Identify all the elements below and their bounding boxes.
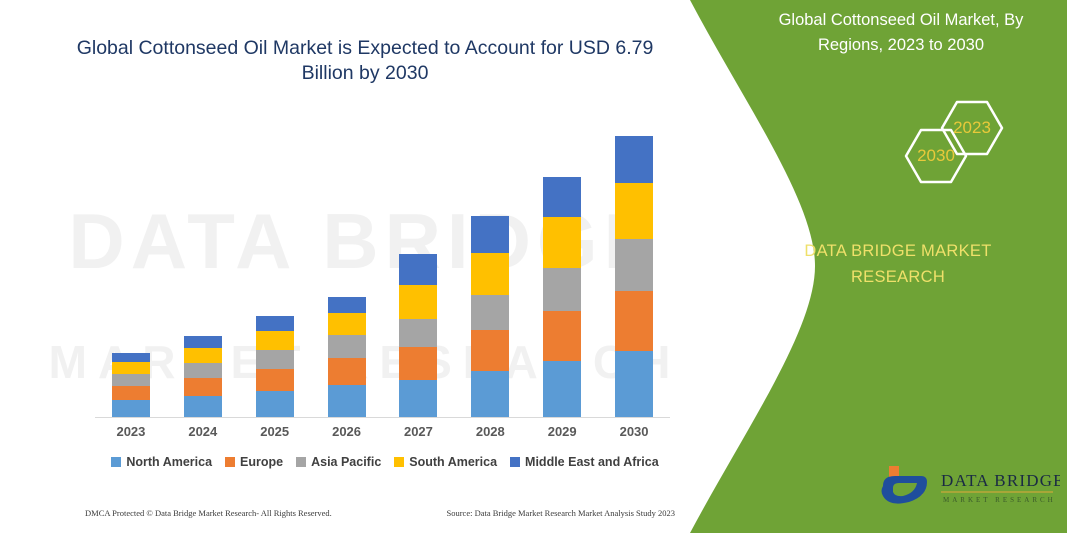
- footer-copyright: DMCA Protected © Data Bridge Market Rese…: [85, 508, 332, 518]
- legend-item-south-america[interactable]: South America: [394, 455, 497, 469]
- bar-column-2030: [615, 136, 653, 417]
- logo-mark-icon: DATA BRIDGE MARKET RESEARCH: [875, 462, 1060, 510]
- hexagon-label-2030: 2030: [906, 146, 966, 166]
- bar-column-2026: [328, 297, 366, 417]
- bar-segment-2024-south-america: [184, 348, 222, 363]
- x-tick-2023: 2023: [95, 424, 167, 439]
- footer-source: Source: Data Bridge Market Research Mark…: [446, 508, 675, 518]
- legend-swatch-icon: [394, 457, 404, 467]
- bar-column-2023: [112, 353, 150, 417]
- bar-segment-2027-europe: [399, 347, 437, 380]
- bar-segment-2029-middle-east-and-africa: [543, 177, 581, 217]
- bar-column-2029: [543, 177, 581, 417]
- bar-segment-2029-europe: [543, 311, 581, 361]
- infographic-root: DATA BRIDGE MARKET RESEARCH Global Cotto…: [0, 0, 1067, 533]
- legend-swatch-icon: [111, 457, 121, 467]
- x-tick-2027: 2027: [383, 424, 455, 439]
- bar-segment-2026-north-america: [328, 385, 366, 417]
- footer: DMCA Protected © Data Bridge Market Rese…: [85, 508, 675, 518]
- bar-segment-2026-europe: [328, 358, 366, 385]
- x-tick-2025: 2025: [239, 424, 311, 439]
- bar-segment-2028-north-america: [471, 371, 509, 417]
- bar-segment-2024-middle-east-and-africa: [184, 336, 222, 348]
- brand-name-line-1: DATA BRIDGE MARKET: [758, 238, 1038, 264]
- data-bridge-logo: DATA BRIDGE MARKET RESEARCH: [875, 462, 1060, 510]
- bar-segment-2026-south-america: [328, 313, 366, 335]
- bar-segment-2024-north-america: [184, 396, 222, 417]
- bar-segment-2027-north-america: [399, 380, 437, 417]
- bar-segment-2030-asia-pacific: [615, 239, 653, 291]
- chart-legend: North AmericaEuropeAsia PacificSouth Ame…: [95, 455, 675, 469]
- bar-segment-2029-north-america: [543, 361, 581, 417]
- bar-segment-2025-north-america: [256, 391, 294, 417]
- legend-item-middle-east-and-africa[interactable]: Middle East and Africa: [510, 455, 659, 469]
- bar-segment-2028-europe: [471, 330, 509, 371]
- bar-segment-2027-asia-pacific: [399, 319, 437, 347]
- brand-name: DATA BRIDGE MARKET RESEARCH: [758, 238, 1038, 290]
- bar-segment-2027-south-america: [399, 285, 437, 319]
- legend-item-asia-pacific[interactable]: Asia Pacific: [296, 455, 381, 469]
- legend-swatch-icon: [296, 457, 306, 467]
- x-tick-2026: 2026: [311, 424, 383, 439]
- bar-segment-2023-north-america: [112, 400, 150, 417]
- bar-segment-2030-south-america: [615, 183, 653, 239]
- legend-label: Middle East and Africa: [525, 455, 659, 469]
- x-axis-tick-labels: 20232024202520262027202820292030: [95, 424, 670, 444]
- bar-column-2024: [184, 336, 222, 417]
- bar-segment-2023-south-america: [112, 362, 150, 374]
- hexagon-outlines: [730, 88, 1067, 208]
- bar-segment-2030-north-america: [615, 351, 653, 417]
- legend-item-north-america[interactable]: North America: [111, 455, 212, 469]
- x-tick-2028: 2028: [454, 424, 526, 439]
- bar-segment-2023-europe: [112, 386, 150, 400]
- legend-label: Europe: [240, 455, 283, 469]
- bar-segment-2030-middle-east-and-africa: [615, 136, 653, 183]
- right-panel: Global Cottonseed Oil Market, By Regions…: [730, 0, 1067, 533]
- bar-segment-2025-europe: [256, 369, 294, 391]
- bar-segment-2028-south-america: [471, 253, 509, 295]
- logo-text-primary: DATA BRIDGE: [941, 471, 1060, 490]
- bar-segment-2025-south-america: [256, 331, 294, 350]
- hexagon-label-2023: 2023: [942, 118, 1002, 138]
- stacked-bar-chart: [95, 120, 670, 418]
- bar-segment-2029-asia-pacific: [543, 268, 581, 311]
- bar-segment-2026-middle-east-and-africa: [328, 297, 366, 313]
- bar-segment-2023-middle-east-and-africa: [112, 353, 150, 362]
- chart-pane: Global Cottonseed Oil Market is Expected…: [0, 0, 730, 533]
- x-tick-2029: 2029: [526, 424, 598, 439]
- hexagon-group: 2030 2023: [730, 88, 1067, 208]
- bar-segment-2024-asia-pacific: [184, 363, 222, 378]
- brand-name-line-2: RESEARCH: [758, 264, 1038, 290]
- panel-title: Global Cottonseed Oil Market, By Regions…: [748, 8, 1054, 58]
- bar-segment-2029-south-america: [543, 217, 581, 268]
- legend-label: North America: [126, 455, 212, 469]
- chart-title: Global Cottonseed Oil Market is Expected…: [70, 36, 660, 86]
- bar-column-2027: [399, 254, 437, 417]
- bar-segment-2028-asia-pacific: [471, 295, 509, 330]
- legend-label: Asia Pacific: [311, 455, 381, 469]
- bar-column-2028: [471, 216, 509, 417]
- bar-segment-2025-asia-pacific: [256, 350, 294, 369]
- bar-segment-2025-middle-east-and-africa: [256, 316, 294, 331]
- legend-item-europe[interactable]: Europe: [225, 455, 283, 469]
- x-axis-line: [95, 417, 670, 418]
- bar-segment-2027-middle-east-and-africa: [399, 254, 437, 285]
- bar-segment-2024-europe: [184, 378, 222, 396]
- legend-swatch-icon: [225, 457, 235, 467]
- x-tick-2030: 2030: [598, 424, 670, 439]
- bar-segment-2023-asia-pacific: [112, 374, 150, 386]
- bar-segment-2026-asia-pacific: [328, 335, 366, 358]
- bar-segment-2028-middle-east-and-africa: [471, 216, 509, 253]
- x-tick-2024: 2024: [167, 424, 239, 439]
- bar-segment-2030-europe: [615, 291, 653, 351]
- legend-swatch-icon: [510, 457, 520, 467]
- logo-text-secondary: MARKET RESEARCH: [943, 496, 1056, 504]
- bar-column-2025: [256, 316, 294, 417]
- legend-label: South America: [409, 455, 497, 469]
